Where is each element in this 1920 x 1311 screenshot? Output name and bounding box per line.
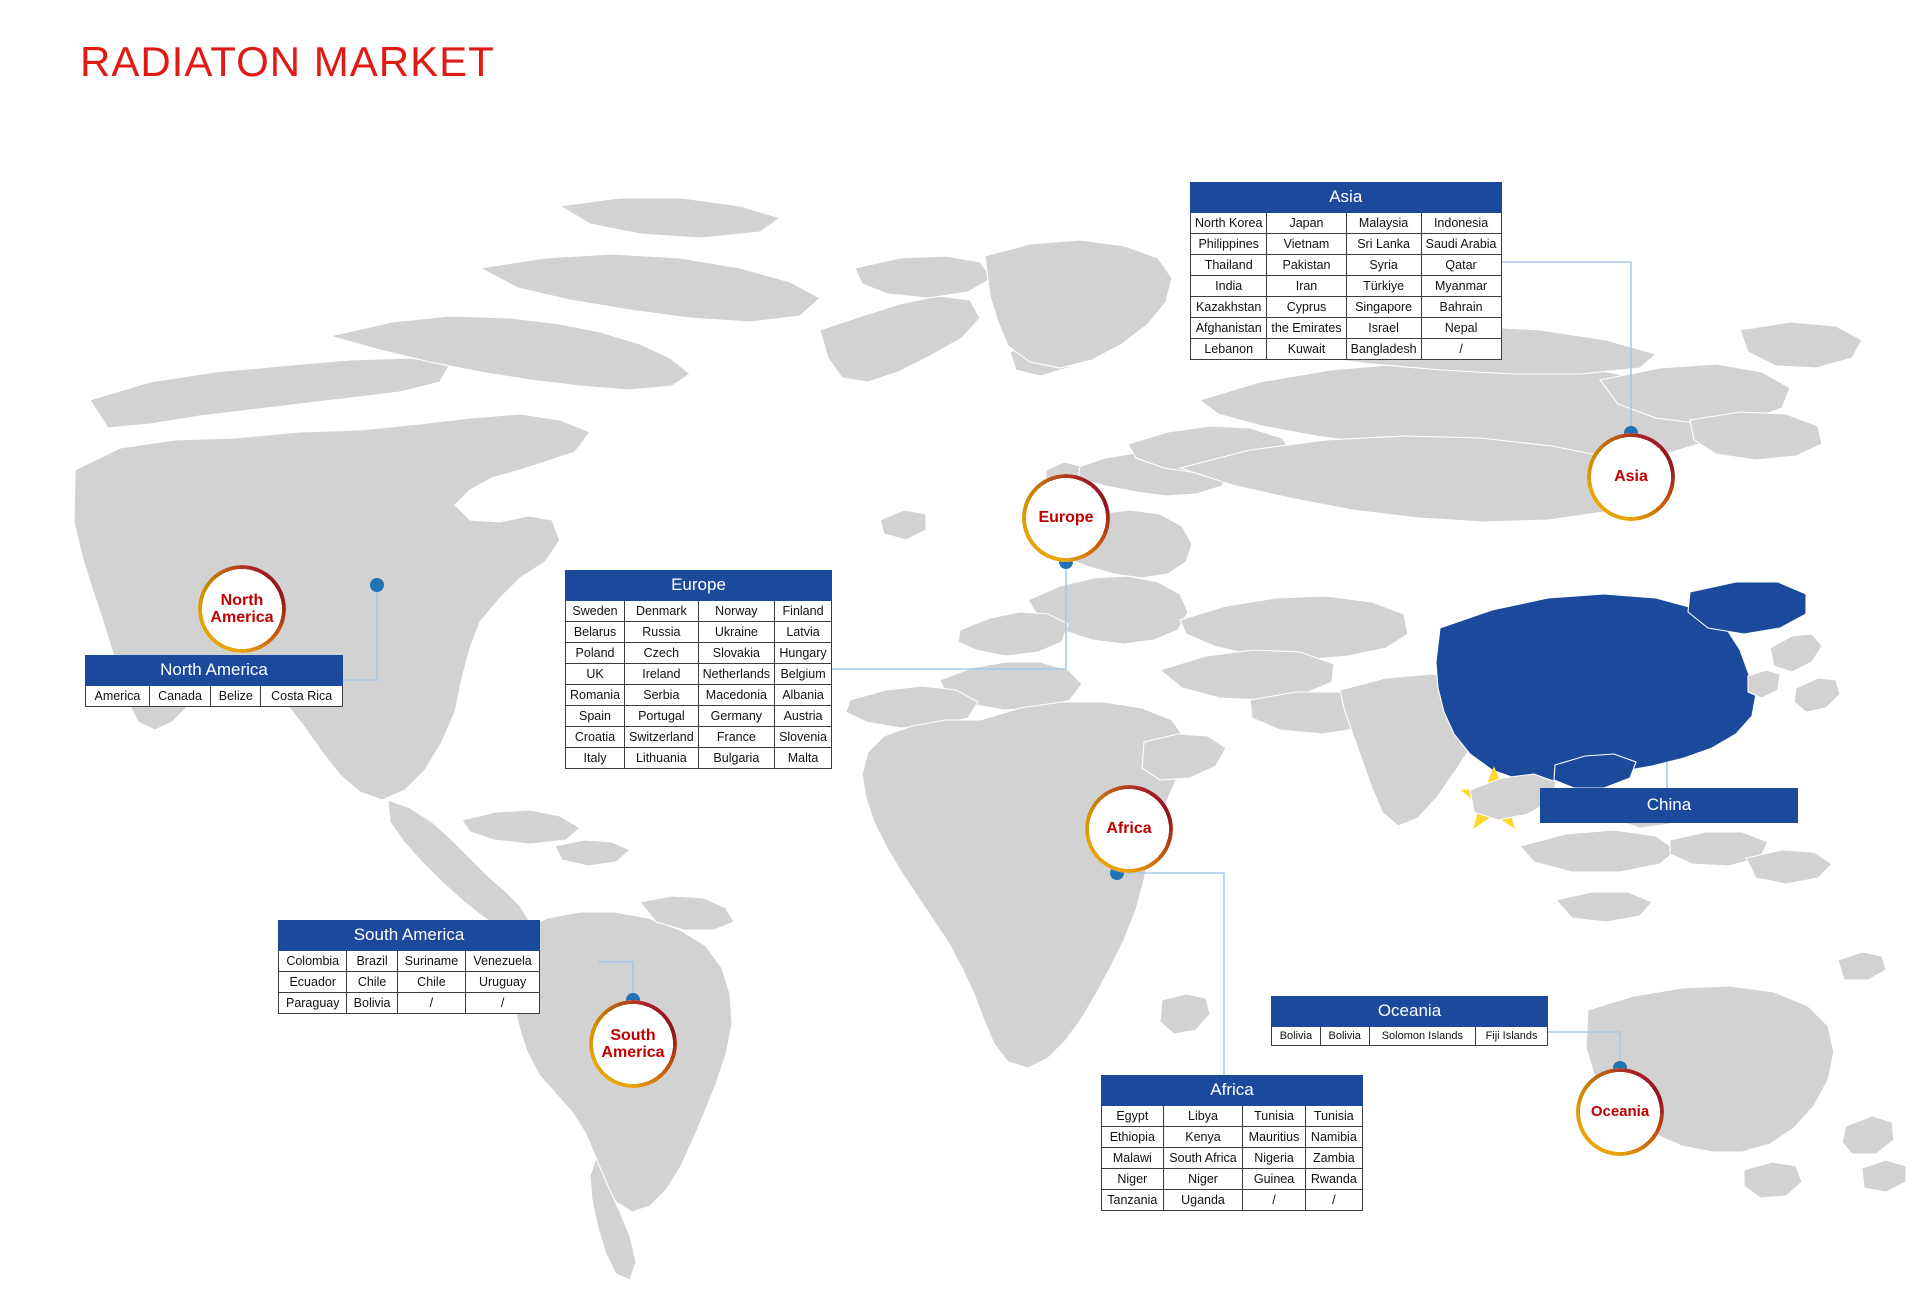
marker-label-line1: South	[610, 1027, 655, 1044]
table-cell: Mauritius	[1243, 1127, 1305, 1148]
table-row: ThailandPakistanSyriaQatar	[1191, 255, 1502, 276]
table-cell: Philippines	[1191, 234, 1267, 255]
table-cell: Tunisia	[1305, 1106, 1362, 1127]
marker-label-oceania: Oceania	[1591, 1104, 1649, 1120]
table-cell: Tunisia	[1243, 1106, 1305, 1127]
table-cell: Suriname	[397, 951, 465, 972]
table-cell: Malaysia	[1346, 213, 1421, 234]
table-row: LebanonKuwaitBangladesh/	[1191, 339, 1502, 360]
table-cell: Bahrain	[1421, 297, 1501, 318]
table-title-asia: Asia	[1191, 183, 1502, 213]
table-cell: Latvia	[775, 622, 832, 643]
table-row: RomaniaSerbiaMacedoniaAlbania	[566, 685, 832, 706]
marker-label-line2: America	[210, 609, 273, 626]
table-title-south-america: South America	[279, 921, 540, 951]
table-cell: Venezuela	[466, 951, 540, 972]
table-cell: Vietnam	[1267, 234, 1346, 255]
table-title-north-america: North America	[86, 656, 343, 686]
table-row: Afghanistanthe EmiratesIsraelNepal	[1191, 318, 1502, 339]
table-cell: Qatar	[1421, 255, 1501, 276]
table-row: IndiaIranTürkiyeMyanmar	[1191, 276, 1502, 297]
table-cell: Albania	[775, 685, 832, 706]
table-cell: Brazil	[347, 951, 397, 972]
table-body-north-america: AmericaCanadaBelizeCosta Rica	[86, 686, 343, 707]
table-cell: Canada	[149, 686, 210, 707]
table-cell: Guinea	[1243, 1169, 1305, 1190]
table-cell: Russia	[625, 622, 699, 643]
table-cell: Chile	[347, 972, 397, 993]
table-cell: Solomon Islands	[1369, 1027, 1475, 1046]
table-cell: Austria	[775, 706, 832, 727]
table-cell: Romania	[566, 685, 625, 706]
table-cell: Denmark	[625, 601, 699, 622]
table-cell: South Africa	[1163, 1148, 1243, 1169]
table-cell: UK	[566, 664, 625, 685]
table-title-africa: Africa	[1102, 1076, 1363, 1106]
table-cell: Thailand	[1191, 255, 1267, 276]
table-row: PhilippinesVietnamSri LankaSaudi Arabia	[1191, 234, 1502, 255]
marker-europe[interactable]: Europe	[1022, 474, 1110, 562]
table-asia: Asia North KoreaJapanMalaysiaIndonesiaPh…	[1190, 182, 1502, 360]
table-cell: Costa Rica	[261, 686, 343, 707]
table-row: EcuadorChileChileUruguay	[279, 972, 540, 993]
table-row: BelarusRussiaUkraineLatvia	[566, 622, 832, 643]
table-cell: Malta	[775, 748, 832, 769]
table-cell: Myanmar	[1421, 276, 1501, 297]
table-cell: Hungary	[775, 643, 832, 664]
table-cell: Poland	[566, 643, 625, 664]
table-cell: /	[397, 993, 465, 1014]
table-row: MalawiSouth AfricaNigeriaZambia	[1102, 1148, 1363, 1169]
table-cell: North Korea	[1191, 213, 1267, 234]
table-row: ParaguayBolivia//	[279, 993, 540, 1014]
table-row: CroatiaSwitzerlandFranceSlovenia	[566, 727, 832, 748]
table-body-africa: EgyptLibyaTunisiaTunisiaEthiopiaKenyaMau…	[1102, 1106, 1363, 1211]
table-cell: /	[466, 993, 540, 1014]
table-cell: Fiji Islands	[1476, 1027, 1548, 1046]
marker-label-line2: America	[601, 1044, 664, 1061]
table-cell: Germany	[698, 706, 774, 727]
table-row: AmericaCanadaBelizeCosta Rica	[86, 686, 343, 707]
table-cell: Slovakia	[698, 643, 774, 664]
table-cell: Nigeria	[1243, 1148, 1305, 1169]
table-cell: Türkiye	[1346, 276, 1421, 297]
marker-label-europe: Europe	[1038, 509, 1093, 526]
table-cell: Niger	[1163, 1169, 1243, 1190]
table-cell: Ethiopia	[1102, 1127, 1164, 1148]
table-cell: Colombia	[279, 951, 347, 972]
marker-label-north-america: North America	[210, 592, 273, 627]
table-row: NigerNigerGuineaRwanda	[1102, 1169, 1363, 1190]
table-cell: Sri Lanka	[1346, 234, 1421, 255]
table-row: ColombiaBrazilSurinameVenezuela	[279, 951, 540, 972]
table-cell: Iran	[1267, 276, 1346, 297]
table-cell: Belize	[211, 686, 261, 707]
table-body-asia: North KoreaJapanMalaysiaIndonesiaPhilipp…	[1191, 213, 1502, 360]
table-row: EgyptLibyaTunisiaTunisia	[1102, 1106, 1363, 1127]
table-cell: Malawi	[1102, 1148, 1164, 1169]
table-cell: Afghanistan	[1191, 318, 1267, 339]
table-cell: Lebanon	[1191, 339, 1267, 360]
table-row: SwedenDenmarkNorwayFinland	[566, 601, 832, 622]
table-africa: Africa EgyptLibyaTunisiaTunisiaEthiopiaK…	[1101, 1075, 1363, 1211]
table-cell: Saudi Arabia	[1421, 234, 1501, 255]
table-cell: Lithuania	[625, 748, 699, 769]
table-row: EthiopiaKenyaMauritiusNamibia	[1102, 1127, 1363, 1148]
table-cell: Bulgaria	[698, 748, 774, 769]
table-cell: Switzerland	[625, 727, 699, 748]
table-cell: Bolivia	[1320, 1027, 1369, 1046]
table-title-europe: Europe	[566, 571, 832, 601]
table-cell: Portugal	[625, 706, 699, 727]
table-row: KazakhstanCyprusSingaporeBahrain	[1191, 297, 1502, 318]
table-row: TanzaniaUganda//	[1102, 1190, 1363, 1211]
table-cell: Tanzania	[1102, 1190, 1164, 1211]
label-bar-china: China	[1540, 788, 1798, 823]
table-cell: /	[1305, 1190, 1362, 1211]
table-title-oceania: Oceania	[1272, 997, 1548, 1027]
table-cell: Sweden	[566, 601, 625, 622]
table-cell: Czech	[625, 643, 699, 664]
table-cell: Croatia	[566, 727, 625, 748]
table-cell: Syria	[1346, 255, 1421, 276]
table-cell: Ukraine	[698, 622, 774, 643]
table-cell: Bolivia	[1272, 1027, 1321, 1046]
table-cell: Belarus	[566, 622, 625, 643]
table-cell: Ecuador	[279, 972, 347, 993]
table-cell: Belgium	[775, 664, 832, 685]
table-cell: Pakistan	[1267, 255, 1346, 276]
table-cell: Zambia	[1305, 1148, 1362, 1169]
marker-oceania[interactable]: Oceania	[1576, 1068, 1664, 1156]
table-cell: Kenya	[1163, 1127, 1243, 1148]
marker-label-south-america: South America	[601, 1027, 664, 1062]
table-row: SpainPortugalGermanyAustria	[566, 706, 832, 727]
table-cell: Italy	[566, 748, 625, 769]
table-body-south-america: ColombiaBrazilSurinameVenezuelaEcuadorCh…	[279, 951, 540, 1014]
table-row: ItalyLithuaniaBulgariaMalta	[566, 748, 832, 769]
table-oceania: Oceania BoliviaBoliviaSolomon IslandsFij…	[1271, 996, 1548, 1046]
table-row: North KoreaJapanMalaysiaIndonesia	[1191, 213, 1502, 234]
table-cell: Finland	[775, 601, 832, 622]
marker-north-america[interactable]: North America	[198, 565, 286, 653]
table-cell: Norway	[698, 601, 774, 622]
table-europe: Europe SwedenDenmarkNorwayFinlandBelarus…	[565, 570, 832, 769]
table-body-oceania: BoliviaBoliviaSolomon IslandsFiji Island…	[1272, 1027, 1548, 1046]
table-cell: /	[1421, 339, 1501, 360]
table-cell: Netherlands	[698, 664, 774, 685]
table-body-europe: SwedenDenmarkNorwayFinlandBelarusRussiaU…	[566, 601, 832, 769]
marker-label-line1: North	[221, 592, 264, 609]
table-cell: Kazakhstan	[1191, 297, 1267, 318]
table-cell: America	[86, 686, 150, 707]
table-cell: Singapore	[1346, 297, 1421, 318]
table-cell: Indonesia	[1421, 213, 1501, 234]
marker-label-asia: Asia	[1614, 468, 1648, 485]
table-cell: Libya	[1163, 1106, 1243, 1127]
table-cell: Serbia	[625, 685, 699, 706]
table-north-america: North America AmericaCanadaBelizeCosta R…	[85, 655, 343, 707]
marker-south-america[interactable]: South America	[589, 1000, 677, 1088]
table-row: UKIrelandNetherlandsBelgium	[566, 664, 832, 685]
table-cell: Bangladesh	[1346, 339, 1421, 360]
table-cell: Slovenia	[775, 727, 832, 748]
marker-africa[interactable]: Africa	[1085, 785, 1173, 873]
table-cell: Spain	[566, 706, 625, 727]
table-cell: Macedonia	[698, 685, 774, 706]
table-cell: Bolivia	[347, 993, 397, 1014]
table-cell: Egypt	[1102, 1106, 1164, 1127]
table-cell: Chile	[397, 972, 465, 993]
table-cell: /	[1243, 1190, 1305, 1211]
infographic-canvas: RADIATON MARKET	[0, 0, 1920, 1311]
table-cell: Niger	[1102, 1169, 1164, 1190]
marker-asia[interactable]: Asia	[1587, 433, 1675, 521]
table-cell: Uruguay	[466, 972, 540, 993]
table-cell: Paraguay	[279, 993, 347, 1014]
table-cell: the Emirates	[1267, 318, 1346, 339]
table-cell: Israel	[1346, 318, 1421, 339]
table-cell: Cyprus	[1267, 297, 1346, 318]
table-cell: Ireland	[625, 664, 699, 685]
table-cell: Uganda	[1163, 1190, 1243, 1211]
table-cell: Rwanda	[1305, 1169, 1362, 1190]
connector-dot-north-america	[370, 578, 384, 592]
table-cell: Nepal	[1421, 318, 1501, 339]
table-south-america: South America ColombiaBrazilSurinameVene…	[278, 920, 540, 1014]
table-row: PolandCzechSlovakiaHungary	[566, 643, 832, 664]
table-cell: Kuwait	[1267, 339, 1346, 360]
table-cell: Namibia	[1305, 1127, 1362, 1148]
table-cell: Japan	[1267, 213, 1346, 234]
table-row: BoliviaBoliviaSolomon IslandsFiji Island…	[1272, 1027, 1548, 1046]
table-cell: France	[698, 727, 774, 748]
table-cell: India	[1191, 276, 1267, 297]
marker-label-africa: Africa	[1106, 820, 1151, 837]
